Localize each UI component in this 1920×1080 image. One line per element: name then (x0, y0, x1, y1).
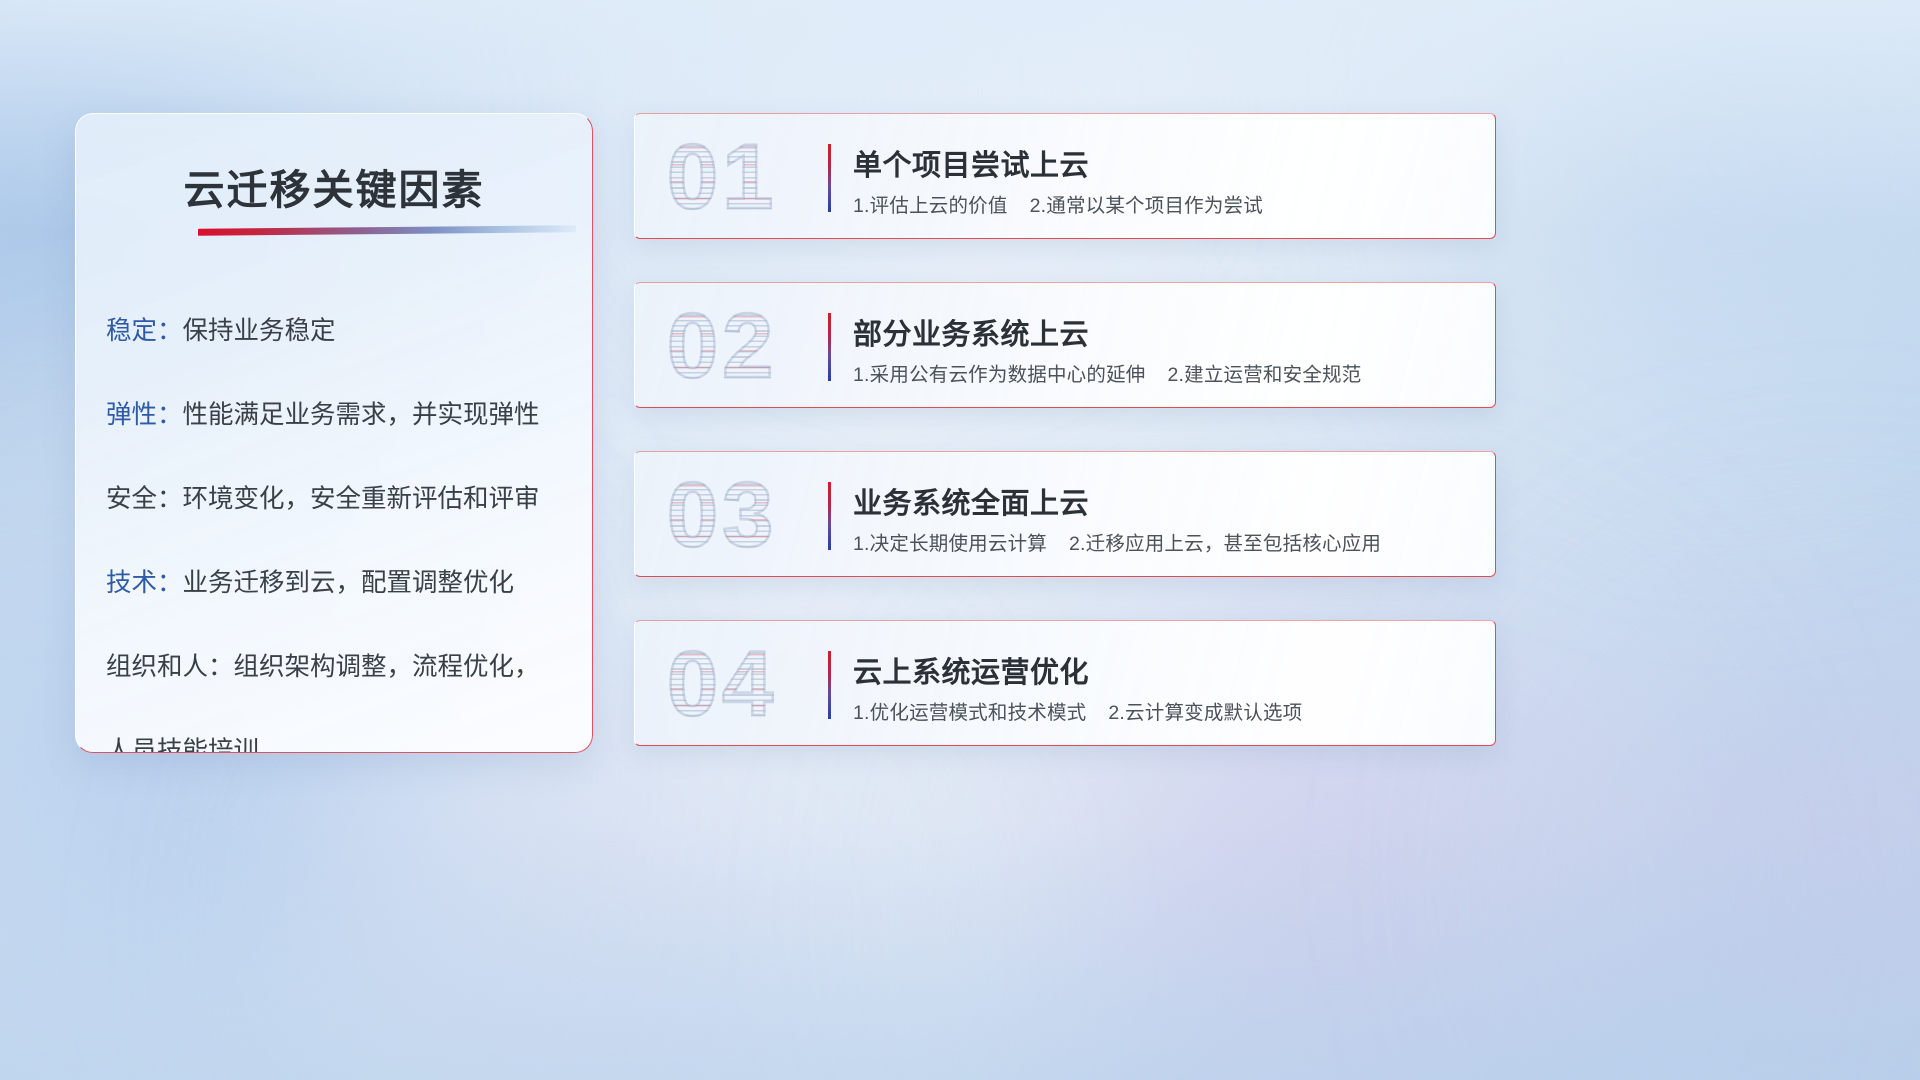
description-item: 1.采用公有云作为数据中心的延伸 (853, 364, 1145, 386)
stage-card[interactable]: 0101单个项目尝试上云1.评估上云的价值2.通常以某个项目作为尝试 (634, 113, 1496, 239)
factor-label: 安全： (106, 485, 183, 513)
factor-row: 技术：业务迁移到云，配置调整优化 (106, 566, 572, 600)
key-factors-panel: 云迁移关键因素 稳定：保持业务稳定弹性：性能满足业务需求，并实现弹性安全：环境变… (75, 113, 593, 753)
stage-divider-bar (828, 144, 831, 212)
factor-label: 稳定： (106, 317, 183, 345)
stage-description: 1.决定长期使用云计算2.迁移应用上云，甚至包括核心应用 (853, 527, 1381, 556)
description-item: 2.云计算变成默认选项 (1108, 702, 1302, 724)
description-item: 2.建立运营和安全规范 (1167, 364, 1361, 386)
stage-card-list: 0101单个项目尝试上云1.评估上云的价值2.通常以某个项目作为尝试0202部分… (634, 113, 1496, 746)
factor-row: 安全：环境变化，安全重新评估和评审 (106, 482, 572, 516)
slide-root: 云迁移关键因素 稳定：保持业务稳定弹性：性能满足业务需求，并实现弹性安全：环境变… (0, 0, 1920, 1080)
factor-value: 业务迁移到云，配置调整优化 (183, 569, 515, 597)
stage-number-watermark: 01 (667, 130, 777, 224)
stage-description: 1.评估上云的价值2.通常以某个项目作为尝试 (853, 189, 1263, 218)
factor-value: 组织架构调整，流程优化， (234, 653, 540, 681)
panel-title: 云迁移关键因素 (76, 156, 592, 216)
description-item: 1.优化运营模式和技术模式 (853, 702, 1086, 724)
stage-divider-bar (828, 651, 831, 719)
factor-row: 组织和人：组织架构调整，流程优化， (106, 650, 572, 684)
stage-title: 业务系统全面上云 (853, 480, 1089, 522)
stage-card[interactable]: 0303业务系统全面上云1.决定长期使用云计算2.迁移应用上云，甚至包括核心应用 (634, 451, 1496, 577)
stage-title: 部分业务系统上云 (853, 311, 1089, 353)
title-underline-rule (198, 225, 576, 236)
stage-divider-bar (828, 482, 831, 550)
stage-number-watermark: 02 (667, 299, 777, 393)
factor-row: 稳定：保持业务稳定 (106, 314, 572, 348)
factor-value: 性能满足业务需求，并实现弹性 (183, 401, 540, 429)
description-item: 1.评估上云的价值 (853, 195, 1008, 217)
factor-row: 人员技能培训 (106, 734, 572, 753)
stage-number-watermark: 04 (667, 637, 777, 731)
factor-label: 技术： (106, 569, 183, 597)
factor-value: 环境变化，安全重新评估和评审 (183, 485, 540, 513)
factor-value: 保持业务稳定 (183, 317, 336, 345)
factor-label: 弹性： (106, 401, 183, 429)
stage-title: 单个项目尝试上云 (853, 142, 1089, 184)
stage-description: 1.采用公有云作为数据中心的延伸2.建立运营和安全规范 (853, 358, 1361, 387)
factor-label: 组织和人： (106, 653, 234, 681)
description-item: 1.决定长期使用云计算 (853, 533, 1047, 555)
factor-list: 稳定：保持业务稳定弹性：性能满足业务需求，并实现弹性安全：环境变化，安全重新评估… (106, 314, 572, 753)
stage-number-watermark: 03 (667, 468, 777, 562)
stage-card[interactable]: 0404云上系统运营优化1.优化运营模式和技术模式2.云计算变成默认选项 (634, 620, 1496, 746)
stage-description: 1.优化运营模式和技术模式2.云计算变成默认选项 (853, 696, 1302, 725)
description-item: 2.迁移应用上云，甚至包括核心应用 (1069, 533, 1381, 555)
stage-title: 云上系统运营优化 (853, 649, 1089, 691)
description-item: 2.通常以某个项目作为尝试 (1030, 195, 1263, 217)
stage-divider-bar (828, 313, 831, 381)
factor-value: 人员技能培训 (106, 737, 259, 753)
factor-row: 弹性：性能满足业务需求，并实现弹性 (106, 398, 572, 432)
stage-card[interactable]: 0202部分业务系统上云1.采用公有云作为数据中心的延伸2.建立运营和安全规范 (634, 282, 1496, 408)
